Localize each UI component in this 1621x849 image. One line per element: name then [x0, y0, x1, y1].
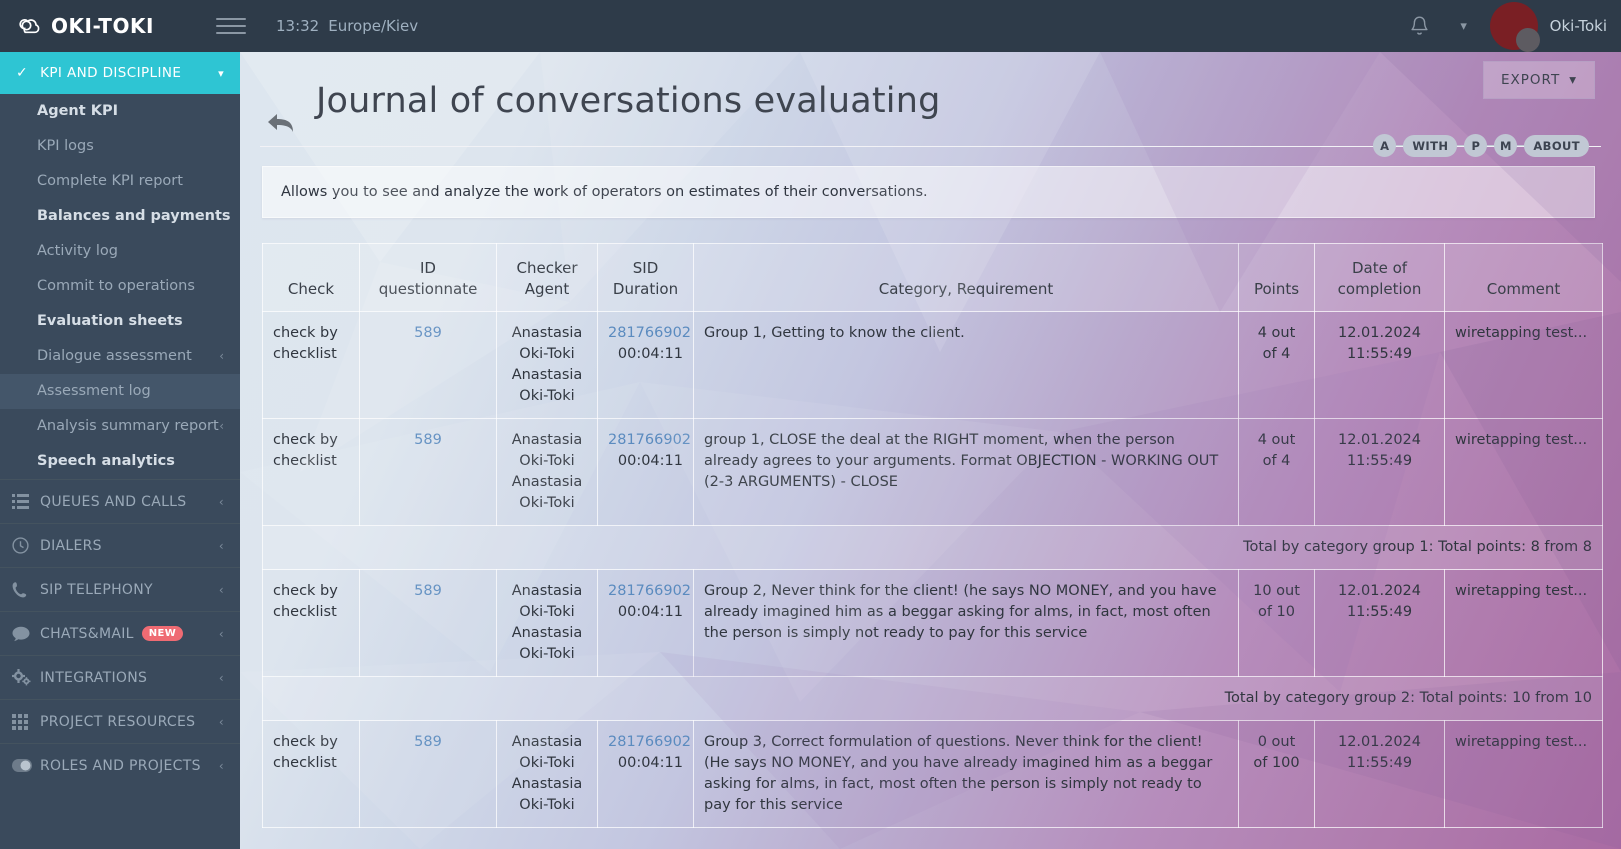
export-label: EXPORT — [1501, 72, 1560, 88]
cell-sid-duration[interactable]: 28176690200:04:11 — [598, 721, 694, 828]
cell-comment: wiretapping test... — [1445, 721, 1603, 828]
current-time: 13:32 — [276, 17, 319, 35]
sidebar-item-kpi-logs[interactable]: KPI logs — [0, 129, 240, 164]
cell-duration: 00:04:11 — [608, 344, 683, 365]
main-content: Journal of conversations evaluating EXPO… — [240, 52, 1621, 849]
column-header-id-line1: ID — [370, 258, 486, 279]
cell-sid-link[interactable]: 281766902 — [608, 430, 683, 451]
gears-icon — [12, 669, 40, 686]
sidebar-group-label: ROLES AND PROJECTS — [40, 758, 219, 774]
breadcrumb-separator — [1517, 145, 1524, 147]
sidebar-item-analysis-summary-report[interactable]: Analysis summary report‹ — [0, 409, 240, 444]
sidebar-item-label: Activity log — [37, 243, 118, 259]
chevron-left-icon: ‹ — [219, 627, 224, 641]
sidebar-item-label: Agent KPI — [37, 103, 118, 119]
sidebar-section-label: KPI AND DISCIPLINE — [40, 65, 218, 81]
toggle-icon — [12, 759, 40, 772]
sidebar-item-label: Commit to operations — [37, 278, 195, 294]
cell-sid-duration[interactable]: 28176690200:04:11 — [598, 419, 694, 526]
cell-id-questionnate[interactable]: 589 — [360, 312, 497, 419]
check-icon: ✓ — [16, 65, 28, 81]
cell-comment: wiretapping test... — [1445, 312, 1603, 419]
badge-new: NEW — [142, 626, 183, 641]
column-header-id-questionnate[interactable]: ID questionnate — [360, 244, 497, 312]
top-bar: OKI-TOKI 13:32 Europe/Kiev ▾ Oki-Toki — [0, 0, 1621, 52]
cell-id-questionnate-link[interactable]: 589 — [414, 734, 442, 750]
page-header: Journal of conversations evaluating EXPO… — [240, 52, 1621, 146]
cell-check: check by checklist — [263, 419, 360, 526]
grid-icon — [12, 714, 40, 730]
column-header-sid-line2: Duration — [608, 279, 683, 300]
chevron-left-icon: ‹ — [219, 495, 224, 509]
user-name[interactable]: Oki-Toki — [1550, 17, 1607, 35]
cell-sid-link[interactable]: 281766902 — [608, 581, 683, 602]
export-button[interactable]: EXPORT ▾ — [1483, 61, 1595, 99]
sidebar-group-list: QUEUES AND CALLS‹DIALERS‹SIP TELEPHONY‹C… — [0, 479, 240, 787]
cell-date-of-completion: 12.01.2024 11:55:49 — [1315, 570, 1445, 677]
header-divider: AWITHPMABOUT — [260, 146, 1601, 147]
cell-checker-agent: Anastasia Oki-Toki Anastasia Oki-Toki — [497, 721, 598, 828]
sidebar-item-label: Complete KPI report — [37, 173, 183, 189]
hamburger-icon[interactable] — [216, 13, 246, 39]
column-header-sid-line1: SID — [608, 258, 683, 279]
sidebar-item-label: Speech analytics — [37, 453, 175, 469]
cell-duration: 00:04:11 — [608, 753, 683, 774]
sidebar-item-commit-to-operations[interactable]: Commit to operations — [0, 269, 240, 304]
column-header-points[interactable]: Points — [1239, 244, 1315, 312]
oki-toki-cloud-icon — [16, 13, 42, 39]
cell-id-questionnate[interactable]: 589 — [360, 570, 497, 677]
cell-category-requirement: Group 2, Never think for the client! (he… — [694, 570, 1239, 677]
cell-id-questionnate-link[interactable]: 589 — [414, 325, 442, 341]
chevron-left-icon: ‹ — [219, 347, 224, 366]
sidebar-item-dialogue-assessment[interactable]: Dialogue assessment‹ — [0, 339, 240, 374]
sidebar-item-label: Balances and payments — [37, 208, 231, 224]
avatar-status-circle — [1516, 28, 1540, 52]
column-header-comment[interactable]: Comment — [1445, 244, 1603, 312]
column-header-date-of-completion[interactable]: Date of completion — [1315, 244, 1445, 312]
cell-points: 10 out of 10 — [1239, 570, 1315, 677]
sidebar-group-sip-telephony[interactable]: SIP TELEPHONY‹ — [0, 567, 240, 611]
column-header-date-line2: completion — [1325, 279, 1434, 300]
cell-duration: 00:04:11 — [608, 451, 683, 472]
cell-check: check by checklist — [263, 570, 360, 677]
chevron-left-icon: ‹ — [219, 583, 224, 597]
journal-table: Check ID questionnate Checker Agent SID … — [262, 243, 1603, 828]
cell-date-of-completion: 12.01.2024 11:55:49 — [1315, 721, 1445, 828]
cell-category-requirement: Group 3, Correct formulation of question… — [694, 721, 1239, 828]
cell-duration: 00:04:11 — [608, 602, 683, 623]
column-header-id-line2: questionnate — [370, 279, 486, 300]
clock-icon — [12, 537, 40, 554]
sidebar-section-kpi-and-discipline[interactable]: ✓ KPI AND DISCIPLINE ▾ — [0, 52, 240, 94]
table-header: Check ID questionnate Checker Agent SID … — [263, 244, 1603, 312]
table-header-row: Check ID questionnate Checker Agent SID … — [263, 244, 1603, 312]
sidebar-item-label: Analysis summary report — [37, 417, 219, 436]
cell-date-of-completion: 12.01.2024 11:55:49 — [1315, 419, 1445, 526]
cell-points: 4 out of 4 — [1239, 419, 1315, 526]
cell-comment: wiretapping test... — [1445, 419, 1603, 526]
sidebar-item-label: Dialogue assessment — [37, 347, 219, 366]
breadcrumb-item-about[interactable]: ABOUT — [1524, 135, 1589, 157]
list-icon — [12, 494, 40, 509]
breadcrumb-separator — [1396, 145, 1403, 147]
sidebar-group-label: INTEGRATIONS — [40, 670, 219, 686]
cell-id-questionnate-link[interactable]: 589 — [414, 583, 442, 599]
chevron-down-icon[interactable]: ▾ — [1442, 19, 1486, 34]
cell-points: 4 out of 4 — [1239, 312, 1315, 419]
sidebar-group-label: SIP TELEPHONY — [40, 582, 219, 598]
cell-sid-duration[interactable]: 28176690200:04:11 — [598, 570, 694, 677]
cell-id-questionnate[interactable]: 589 — [360, 419, 497, 526]
column-header-checker-line1: Checker — [507, 258, 587, 279]
column-header-category[interactable]: Category, Requirement — [694, 244, 1239, 312]
chevron-left-icon: ‹ — [219, 417, 224, 436]
chevron-left-icon: ‹ — [219, 715, 224, 729]
sidebar-item-agent-kpi[interactable]: Agent KPI — [0, 94, 240, 129]
sidebar-group-integrations[interactable]: INTEGRATIONS‹ — [0, 655, 240, 699]
chevron-left-icon: ‹ — [219, 759, 224, 773]
timezone-label: Europe/Kiev — [328, 17, 418, 35]
breadcrumb-item-m[interactable]: M — [1494, 134, 1517, 157]
cell-date-of-completion: 12.01.2024 11:55:49 — [1315, 312, 1445, 419]
brand-name: OKI-TOKI — [51, 14, 154, 38]
sidebar-group-label: QUEUES AND CALLS — [40, 494, 219, 510]
sidebar-group-roles-and-projects[interactable]: ROLES AND PROJECTS‹ — [0, 743, 240, 787]
sidebar-group-label: CHATS&MAILNEW — [40, 626, 219, 642]
table-total-row: Total by category group 2: Total points:… — [263, 677, 1603, 721]
sidebar: ✓ KPI AND DISCIPLINE ▾ Agent KPIKPI logs… — [0, 52, 240, 849]
sidebar-item-complete-kpi-report[interactable]: Complete KPI report — [0, 164, 240, 199]
breadcrumb: AWITHPMABOUT — [1373, 134, 1589, 157]
column-header-sid-duration[interactable]: SID Duration — [598, 244, 694, 312]
sidebar-group-label: PROJECT RESOURCES — [40, 714, 219, 730]
breadcrumb-item-a[interactable]: A — [1373, 134, 1396, 157]
cell-points: 0 out of 100 — [1239, 721, 1315, 828]
cell-checker-agent: Anastasia Oki-Toki Anastasia Oki-Toki — [497, 312, 598, 419]
back-arrow-icon[interactable] — [264, 108, 298, 138]
column-header-check[interactable]: Check — [263, 244, 360, 312]
sidebar-group-project-resources[interactable]: PROJECT RESOURCES‹ — [0, 699, 240, 743]
cell-category-requirement: group 1, CLOSE the deal at the RIGHT mom… — [694, 419, 1239, 526]
sidebar-item-balances-and-payments[interactable]: Balances and payments — [0, 199, 240, 234]
cell-check: check by checklist — [263, 312, 360, 419]
cell-id-questionnate[interactable]: 589 — [360, 721, 497, 828]
sidebar-item-activity-log[interactable]: Activity log — [0, 234, 240, 269]
cell-check: check by checklist — [263, 721, 360, 828]
total-label: Total by category group 2: Total points:… — [263, 677, 1603, 721]
clock: 13:32 Europe/Kiev — [276, 17, 418, 35]
sidebar-item-label: Evaluation sheets — [37, 313, 183, 329]
table-row: check by checklist589Anastasia Oki-Toki … — [263, 312, 1603, 419]
journal-table-wrapper: Check ID questionnate Checker Agent SID … — [262, 243, 1602, 828]
table-total-row: Total by category group 1: Total points:… — [263, 526, 1603, 570]
sidebar-item-label: KPI logs — [37, 138, 94, 154]
sidebar-group-dialers[interactable]: DIALERS‹ — [0, 523, 240, 567]
chat-icon — [12, 626, 40, 642]
sidebar-item-assessment-log[interactable]: Assessment log — [0, 374, 240, 409]
breadcrumb-separator — [1487, 145, 1494, 147]
chevron-down-icon: ▾ — [1569, 72, 1577, 88]
phone-icon — [12, 581, 40, 598]
table-body: check by checklist589Anastasia Oki-Toki … — [263, 312, 1603, 828]
info-banner: Allows you to see and analyze the work o… — [262, 166, 1595, 218]
sidebar-sub-list: Agent KPIKPI logsComplete KPI reportBala… — [0, 94, 240, 479]
table-row: check by checklist589Anastasia Oki-Toki … — [263, 570, 1603, 677]
page-title: Journal of conversations evaluating — [316, 70, 1621, 132]
sidebar-item-evaluation-sheets[interactable]: Evaluation sheets — [0, 304, 240, 339]
avatar[interactable] — [1486, 0, 1544, 52]
table-row: check by checklist589Anastasia Oki-Toki … — [263, 419, 1603, 526]
cell-sid-link[interactable]: 281766902 — [608, 732, 683, 753]
top-bar-right: ▾ Oki-Toki — [1398, 0, 1621, 52]
breadcrumb-separator — [1457, 145, 1464, 147]
cell-id-questionnate-link[interactable]: 589 — [414, 432, 442, 448]
sidebar-group-chats-mail[interactable]: CHATS&MAILNEW‹ — [0, 611, 240, 655]
brand-logo[interactable]: OKI-TOKI — [16, 13, 196, 39]
chevron-down-icon: ▾ — [218, 67, 224, 80]
table-row: check by checklist589Anastasia Oki-Toki … — [263, 721, 1603, 828]
chevron-left-icon: ‹ — [219, 671, 224, 685]
breadcrumb-item-p[interactable]: P — [1464, 134, 1487, 157]
sidebar-item-label: Assessment log — [37, 383, 151, 399]
sidebar-group-queues-and-calls[interactable]: QUEUES AND CALLS‹ — [0, 479, 240, 523]
cell-sid-link[interactable]: 281766902 — [608, 323, 683, 344]
cell-sid-duration[interactable]: 28176690200:04:11 — [598, 312, 694, 419]
bell-icon[interactable] — [1398, 15, 1442, 38]
column-header-checker-line2: Agent — [507, 279, 587, 300]
chevron-left-icon: ‹ — [219, 539, 224, 553]
cell-checker-agent: Anastasia Oki-Toki Anastasia Oki-Toki — [497, 419, 598, 526]
cell-category-requirement: Group 1, Getting to know the client. — [694, 312, 1239, 419]
column-header-checker-agent[interactable]: Checker Agent — [497, 244, 598, 312]
cell-checker-agent: Anastasia Oki-Toki Anastasia Oki-Toki — [497, 570, 598, 677]
breadcrumb-item-with[interactable]: WITH — [1403, 135, 1457, 157]
total-label: Total by category group 1: Total points:… — [263, 526, 1603, 570]
sidebar-group-label: DIALERS — [40, 538, 219, 554]
column-header-date-line1: Date of — [1325, 258, 1434, 279]
sidebar-item-speech-analytics[interactable]: Speech analytics — [0, 444, 240, 479]
cell-comment: wiretapping test... — [1445, 570, 1603, 677]
